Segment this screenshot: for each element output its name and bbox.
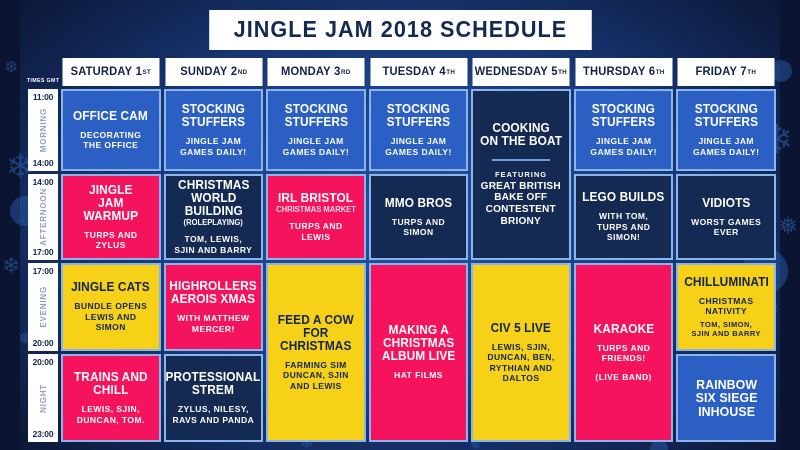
show-subtitle: (ROLEPLAYING) bbox=[184, 219, 243, 227]
show-title: STOCKINGSTUFFERS bbox=[592, 103, 655, 129]
day-header-name: TUESDAY bbox=[382, 66, 436, 78]
show-subtitle: CHRISTMAS MARKET bbox=[276, 206, 356, 214]
show-title: MMO BROS bbox=[385, 197, 452, 210]
show-card-lego-builds[interactable]: LEGO BUILDS WITH TOM,TURPS ANDSIMON! bbox=[574, 174, 674, 260]
band-end-time: 23:00 bbox=[28, 429, 58, 439]
day-header-saturday: SATURDAY 1ST bbox=[62, 58, 159, 86]
day-header-date: 7 bbox=[741, 66, 747, 78]
show-title: CHRISTMASWORLD BUILDING bbox=[172, 179, 255, 218]
day-header-name: FRIDAY bbox=[696, 66, 738, 78]
show-body: TURPS ANDZYLUS bbox=[84, 230, 137, 251]
show-body: TOM, LEWIS,SJIN AND BARRY bbox=[174, 234, 252, 255]
show-title: STOCKINGSTUFFERS bbox=[387, 103, 450, 129]
band-end-time: 17:00 bbox=[28, 247, 58, 257]
snowflake-icon: ❅ bbox=[778, 215, 798, 239]
show-card-trains-and-chill[interactable]: TRAINS ANDCHILL LEWIS, SJIN,DUNCAN, TOM. bbox=[61, 354, 161, 442]
show-title: OFFICE CAM bbox=[73, 110, 148, 123]
show-body: WITH TOM,TURPS ANDSIMON! bbox=[597, 211, 650, 242]
day-header-sunday: SUNDAY 2ND bbox=[165, 58, 262, 86]
show-card-jingle-cats[interactable]: JINGLE CATS BUNDLE OPENSLEWIS ANDSIMON bbox=[61, 263, 161, 351]
show-card-stocking-stuffers-monday[interactable]: STOCKINGSTUFFERS JINGLE JAMGAMES DAILY! bbox=[266, 89, 366, 171]
show-card-mmo-bros[interactable]: MMO BROS TURPS ANDSIMON bbox=[369, 174, 469, 260]
show-title: RAINBOWSIX SIEGEINHOUSE bbox=[695, 378, 757, 419]
day-header-monday: MONDAY 3RD bbox=[268, 58, 365, 86]
page-title-text: JINGLE JAM 2018 SCHEDULE bbox=[209, 10, 591, 50]
show-card-making-a-christmas-album-live[interactable]: MAKING ACHRISTMASALBUM LIVE HAT FILMS bbox=[369, 263, 469, 442]
snowflake-icon: ❆ bbox=[5, 60, 18, 75]
day-header-ordinal: RD bbox=[341, 69, 351, 76]
show-body: JINGLE JAMGAMES DAILY! bbox=[283, 136, 349, 157]
show-title: FEED A COWFOR CHRISTMAS bbox=[274, 314, 357, 353]
show-body-secondary: (LIVE BAND) bbox=[595, 372, 651, 382]
times-legend: TIMES GMT bbox=[28, 58, 58, 86]
show-title: COOKINGON THE BOAT bbox=[480, 122, 562, 148]
show-card-stocking-stuffers-tuesday[interactable]: STOCKINGSTUFFERS JINGLE JAMGAMES DAILY! bbox=[369, 89, 469, 171]
show-body: LEWIS, SJIN,DUNCAN, BEN,RYTHIAN ANDDALTO… bbox=[487, 342, 554, 383]
show-body: DECORATINGTHE OFFICE bbox=[80, 130, 141, 151]
show-card-stocking-stuffers-friday[interactable]: STOCKINGSTUFFERS JINGLE JAMGAMES DAILY! bbox=[676, 89, 776, 171]
show-body: JINGLE JAMGAMES DAILY! bbox=[590, 136, 656, 157]
show-card-vidiots[interactable]: VIDIOTS WORST GAMESEVER bbox=[676, 174, 776, 260]
show-title: PROTESSIONALSTREM bbox=[166, 371, 261, 397]
band-start-time: 11:00 bbox=[28, 92, 58, 102]
show-title: STOCKINGSTUFFERS bbox=[284, 103, 347, 129]
day-header-friday: FRIDAY 7TH bbox=[678, 58, 775, 86]
day-header-ordinal: TH bbox=[748, 69, 757, 76]
show-body: ZYLUS, NILESY,RAVS AND PANDA bbox=[173, 404, 255, 425]
show-body-secondary: TOM, SIMON,SJIN AND BARRY bbox=[691, 320, 761, 338]
show-featuring-label: FEATURING bbox=[495, 170, 547, 179]
band-label: MORNING bbox=[39, 108, 48, 152]
show-title: KARAOKE bbox=[593, 323, 654, 336]
day-header-name: SUNDAY bbox=[180, 66, 227, 78]
day-header-ordinal: ND bbox=[237, 69, 247, 76]
day-header-date: 6 bbox=[649, 66, 655, 78]
show-card-chilluminati[interactable]: CHILLUMINATI CHRISTMASNATIVITY TOM, SIMO… bbox=[676, 263, 776, 351]
band-start-time: 17:00 bbox=[28, 266, 58, 276]
show-body: HAT FILMS bbox=[394, 370, 443, 380]
show-body: WITH MATTHEWMERCER! bbox=[177, 313, 249, 334]
show-card-stocking-stuffers-thursday[interactable]: STOCKINGSTUFFERS JINGLE JAMGAMES DAILY! bbox=[574, 89, 674, 171]
show-body: CHRISTMASNATIVITY bbox=[699, 296, 754, 317]
show-title: LEGO BUILDS bbox=[583, 191, 665, 204]
show-body: TURPS ANDSIMON bbox=[392, 217, 445, 238]
band-end-time: 20:00 bbox=[28, 338, 58, 348]
page-title: JINGLE JAM 2018 SCHEDULE bbox=[0, 10, 800, 50]
show-body: TURPS ANDFRIENDS! bbox=[597, 343, 650, 364]
day-header-ordinal: TH bbox=[656, 69, 665, 76]
show-title: JINGLEJAM WARMUP bbox=[69, 184, 152, 223]
show-card-irl-bristol[interactable]: IRL BRISTOL CHRISTMAS MARKET TURPS ANDLE… bbox=[266, 174, 366, 260]
show-card-rainbow-six-siege-inhouse[interactable]: RAINBOWSIX SIEGEINHOUSE bbox=[676, 354, 776, 442]
show-title: STOCKINGSTUFFERS bbox=[182, 103, 245, 129]
show-title: IRL BRISTOL bbox=[278, 192, 353, 205]
band-label: NIGHT bbox=[39, 384, 48, 413]
show-body: TURPS ANDLEWIS bbox=[289, 221, 342, 242]
time-band-evening: 17:00 EVENING 20:00 bbox=[28, 263, 58, 351]
show-title: MAKING ACHRISTMASALBUM LIVE bbox=[382, 324, 456, 363]
day-header-date: 4 bbox=[439, 66, 445, 78]
day-header-date: 3 bbox=[334, 66, 340, 78]
show-card-office-cam[interactable]: OFFICE CAM DECORATINGTHE OFFICE bbox=[61, 89, 161, 171]
show-title: TRAINS ANDCHILL bbox=[74, 371, 148, 397]
schedule-grid: TIMES GMT SATURDAY 1ST SUNDAY 2ND MONDAY… bbox=[28, 58, 776, 436]
show-body: LEWIS, SJIN,DUNCAN, TOM. bbox=[77, 404, 145, 425]
show-title: CHILLUMINATI bbox=[684, 276, 769, 289]
day-header-date: 2 bbox=[230, 66, 236, 78]
show-featuring-name: GREAT BRITISHBAKE OFFCONTESTENTBRIONY bbox=[481, 181, 561, 228]
day-header-wednesday: WEDNESDAY 5TH bbox=[473, 58, 570, 86]
show-card-highrollers-aerois-xmas[interactable]: HIGHROLLERSAEROIS XMAS WITH MATTHEWMERCE… bbox=[164, 263, 264, 351]
times-legend-label: TIMES GMT bbox=[27, 78, 59, 84]
show-body: JINGLE JAMGAMES DAILY! bbox=[693, 136, 759, 157]
band-label: AFTERNOON bbox=[39, 188, 48, 246]
day-header-date: 1 bbox=[136, 66, 142, 78]
show-card-karaoke[interactable]: KARAOKE TURPS ANDFRIENDS! (LIVE BAND) bbox=[574, 263, 674, 442]
show-card-cooking-on-the-boat[interactable]: COOKINGON THE BOAT FEATURING GREAT BRITI… bbox=[471, 89, 571, 260]
band-start-time: 14:00 bbox=[28, 177, 58, 187]
show-body: FARMING SIMDUNCAN, SJINAND LEWIS bbox=[283, 360, 349, 391]
band-start-time: 20:00 bbox=[28, 357, 58, 367]
day-header-name: WEDNESDAY bbox=[475, 66, 548, 78]
day-header-date: 5 bbox=[551, 66, 557, 78]
day-header-ordinal: TH bbox=[446, 69, 455, 76]
show-title: CIV 5 LIVE bbox=[491, 322, 551, 335]
time-band-night: 20:00 NIGHT 23:00 bbox=[28, 354, 58, 442]
day-header-tuesday: TUESDAY 4TH bbox=[370, 58, 467, 86]
show-body: JINGLE JAMGAMES DAILY! bbox=[385, 136, 451, 157]
show-title: HIGHROLLERSAEROIS XMAS bbox=[170, 280, 257, 306]
time-band-afternoon: 14:00 AFTERNOON 17:00 bbox=[28, 174, 58, 260]
show-card-civ-5-live[interactable]: CIV 5 LIVE LEWIS, SJIN,DUNCAN, BEN,RYTHI… bbox=[471, 263, 571, 442]
day-header-name: THURSDAY bbox=[583, 66, 646, 78]
day-header-thursday: THURSDAY 6TH bbox=[575, 58, 672, 86]
day-header-ordinal: ST bbox=[142, 69, 150, 76]
show-body: BUNDLE OPENSLEWIS ANDSIMON bbox=[74, 301, 147, 332]
show-title: STOCKINGSTUFFERS bbox=[694, 103, 757, 129]
snowflake-icon: ❄ bbox=[2, 255, 20, 277]
show-body: WORST GAMESEVER bbox=[691, 217, 761, 238]
time-band-morning: 11:00 MORNING 14:00 bbox=[28, 89, 58, 171]
show-card-protessional-strem[interactable]: PROTESSIONALSTREM ZYLUS, NILESY,RAVS AND… bbox=[164, 354, 264, 442]
show-body: JINGLE JAMGAMES DAILY! bbox=[180, 136, 246, 157]
band-end-time: 14:00 bbox=[28, 158, 58, 168]
show-title: JINGLE CATS bbox=[71, 281, 150, 294]
day-header-name: SATURDAY bbox=[71, 66, 133, 78]
divider bbox=[492, 159, 550, 161]
show-card-feed-a-cow-for-christmas[interactable]: FEED A COWFOR CHRISTMAS FARMING SIMDUNCA… bbox=[266, 263, 366, 442]
show-card-stocking-stuffers-sunday[interactable]: STOCKINGSTUFFERS JINGLE JAMGAMES DAILY! bbox=[164, 89, 264, 171]
show-title: VIDIOTS bbox=[702, 197, 750, 210]
day-header-ordinal: TH bbox=[558, 69, 567, 76]
show-card-christmas-world-building[interactable]: CHRISTMASWORLD BUILDING (ROLEPLAYING) TO… bbox=[164, 174, 264, 260]
show-card-jingle-jam-warmup[interactable]: JINGLEJAM WARMUP TURPS ANDZYLUS bbox=[61, 174, 161, 260]
day-header-name: MONDAY bbox=[281, 66, 331, 78]
band-label: EVENING bbox=[39, 286, 48, 328]
